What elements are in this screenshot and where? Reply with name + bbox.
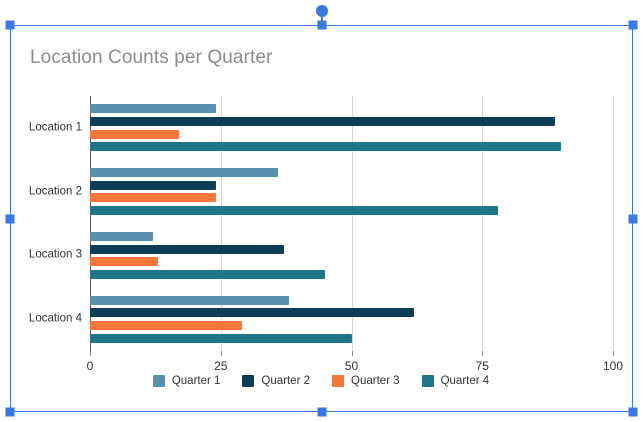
legend-swatch-icon — [153, 375, 165, 387]
chart-container[interactable]: Location Counts per Quarter 0255075100Lo… — [11, 26, 631, 410]
rotate-handle[interactable] — [316, 5, 328, 17]
x-axis-tick — [90, 351, 91, 356]
bar[interactable] — [90, 181, 216, 190]
bar[interactable] — [90, 296, 289, 305]
x-axis-tick-label: 50 — [345, 359, 358, 373]
gridline — [613, 96, 614, 351]
legend-item[interactable]: Quarter 3 — [332, 375, 400, 387]
bar[interactable] — [90, 193, 216, 202]
x-axis-tick — [482, 351, 483, 356]
legend-swatch-icon — [422, 375, 434, 387]
bar-group: Location 3 — [90, 224, 613, 288]
resize-handle-bottom-right[interactable] — [629, 408, 638, 417]
legend-label: Quarter 2 — [261, 375, 310, 387]
legend-item[interactable]: Quarter 4 — [422, 375, 490, 387]
plot-area: 0255075100Location 1Location 2Location 3… — [90, 96, 613, 351]
bar[interactable] — [90, 308, 414, 317]
category-label: Location 3 — [29, 250, 82, 262]
bar[interactable] — [90, 232, 153, 241]
category-label: Location 2 — [29, 186, 82, 198]
legend-swatch-icon — [242, 375, 254, 387]
bar[interactable] — [90, 257, 158, 266]
bar-group: Location 2 — [90, 160, 613, 224]
category-label: Location 1 — [29, 122, 82, 134]
x-axis-tick — [221, 351, 222, 356]
bar[interactable] — [90, 334, 352, 343]
bar[interactable] — [90, 130, 179, 139]
bar[interactable] — [90, 117, 555, 126]
resize-handle-top-left[interactable] — [6, 21, 15, 30]
x-axis-tick-label: 0 — [87, 359, 94, 373]
legend-item[interactable]: Quarter 2 — [242, 375, 310, 387]
legend-label: Quarter 1 — [172, 375, 221, 387]
x-axis-tick — [352, 351, 353, 356]
bar[interactable] — [90, 270, 325, 279]
legend-label: Quarter 3 — [351, 375, 400, 387]
bar[interactable] — [90, 245, 284, 254]
legend-swatch-icon — [332, 375, 344, 387]
bar-group: Location 1 — [90, 96, 613, 160]
resize-handle-middle-left[interactable] — [6, 214, 15, 223]
legend-label: Quarter 4 — [441, 375, 490, 387]
x-axis-tick — [613, 351, 614, 356]
resize-handle-top-center[interactable] — [317, 21, 326, 30]
resize-handle-bottom-left[interactable] — [6, 408, 15, 417]
bar[interactable] — [90, 206, 498, 215]
category-label: Location 4 — [29, 313, 82, 325]
legend-item[interactable]: Quarter 1 — [153, 375, 221, 387]
x-axis-tick-label: 100 — [603, 359, 623, 373]
bar-group: Location 4 — [90, 287, 613, 351]
bar[interactable] — [90, 104, 216, 113]
bar[interactable] — [90, 168, 278, 177]
bar[interactable] — [90, 142, 561, 151]
x-axis-tick-label: 75 — [476, 359, 489, 373]
resize-handle-top-right[interactable] — [629, 21, 638, 30]
resize-handle-middle-right[interactable] — [629, 214, 638, 223]
chart-title: Location Counts per Quarter — [30, 47, 272, 69]
x-axis-tick-label: 25 — [214, 359, 227, 373]
resize-handle-bottom-center[interactable] — [317, 408, 326, 417]
bar[interactable] — [90, 321, 242, 330]
chart-legend[interactable]: Quarter 1Quarter 2Quarter 3Quarter 4 — [11, 375, 631, 387]
